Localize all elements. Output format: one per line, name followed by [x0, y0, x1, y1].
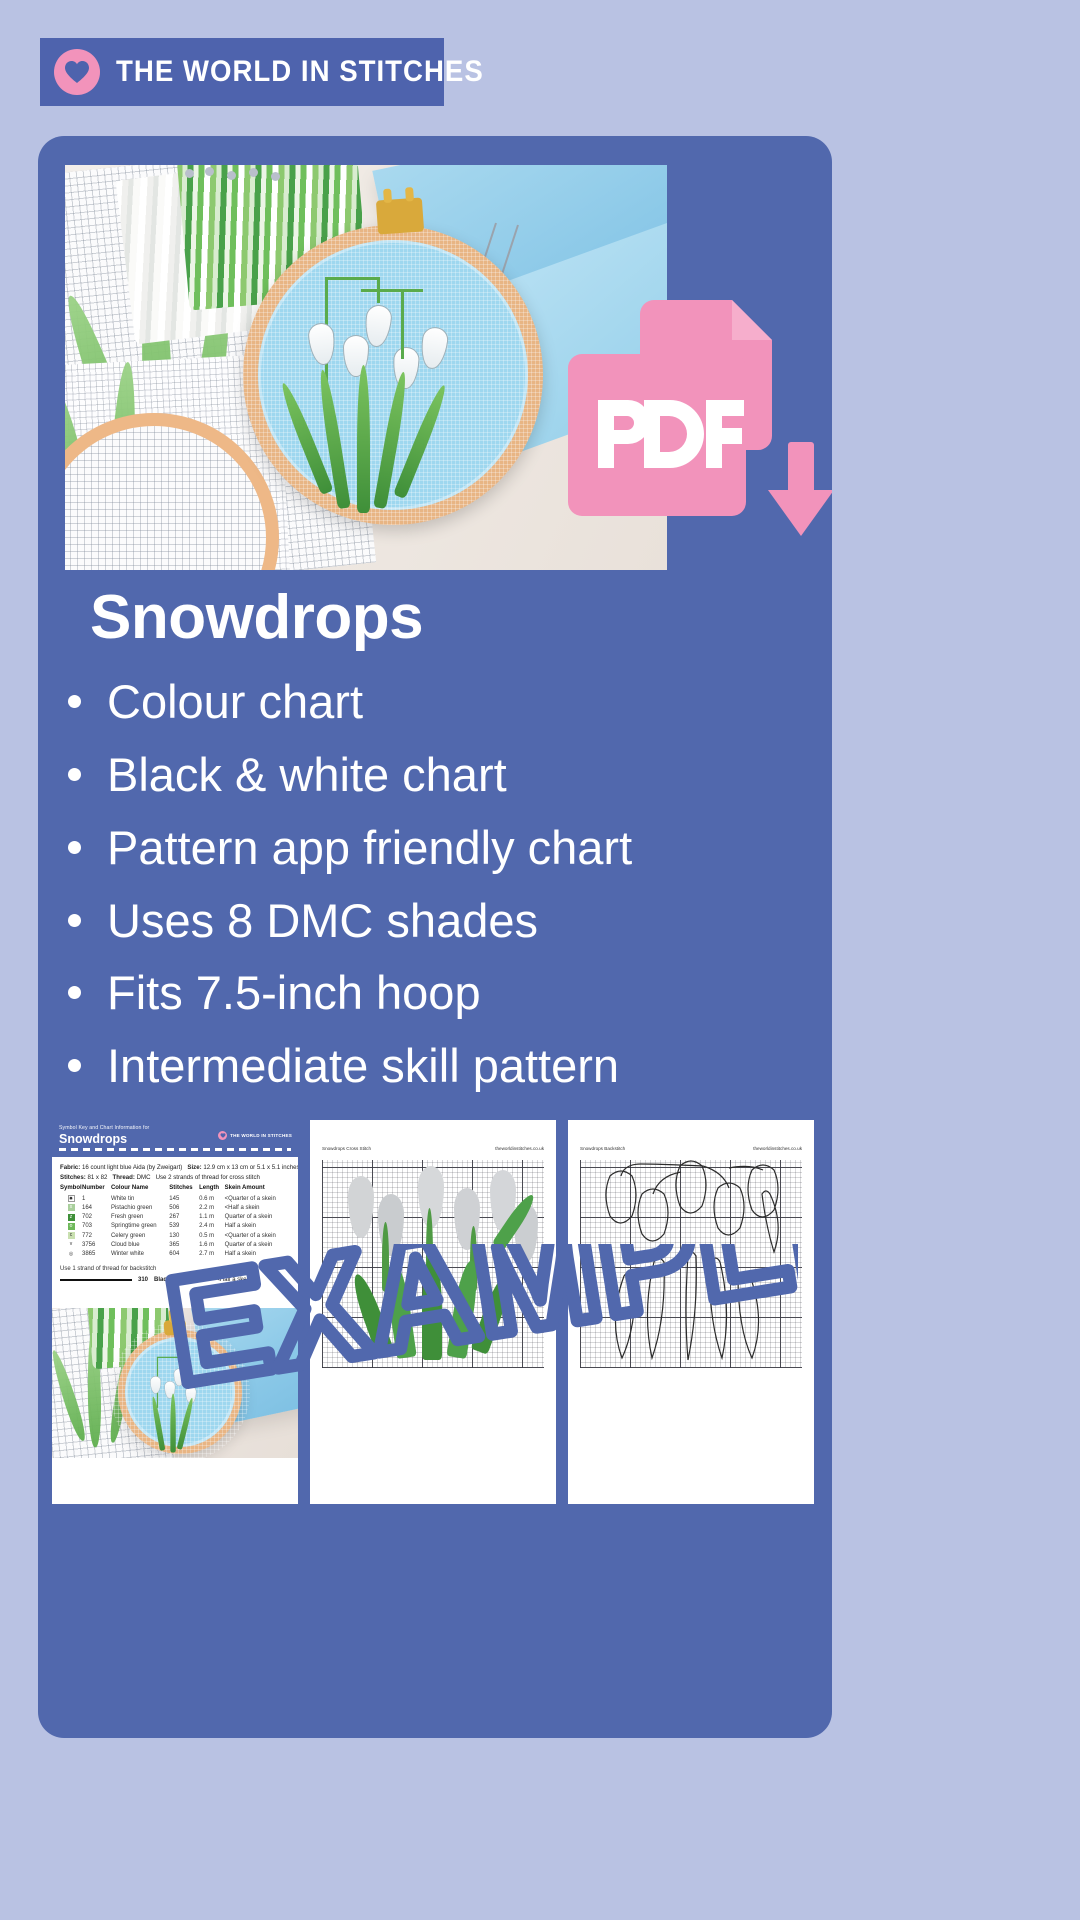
cell-length: 2.7 m [199, 1250, 225, 1259]
table-row: x 164 Pistachio green 506 2.2 m <Half a … [60, 1203, 290, 1212]
cell-name: White tin [111, 1194, 169, 1203]
key-sheet-brand: THE WORLD IN STITCHES [218, 1131, 292, 1140]
backstitch-chart-title: Snowdrops Backstitch [580, 1146, 625, 1151]
list-item: Pattern app friendly chart [68, 812, 808, 885]
cell-number: 3756 [82, 1240, 111, 1249]
cell-skein: Quarter of a skein [225, 1240, 290, 1249]
feature-label: Pattern app friendly chart [107, 812, 632, 885]
cell-length: 1.6 m [199, 1240, 225, 1249]
key-sheet-brand-label: THE WORLD IN STITCHES [230, 1133, 292, 1138]
bullet-icon [68, 986, 81, 999]
cell-stitches: 130 [169, 1231, 199, 1240]
preview-key-sheet[interactable]: Symbol Key and Chart Information for Sno… [52, 1120, 298, 1504]
col-stitches: Stitches [169, 1185, 199, 1194]
list-item: Intermediate skill pattern [68, 1030, 808, 1103]
cell-name: Fresh green [111, 1213, 169, 1222]
cell-number: 3865 [82, 1250, 111, 1259]
bullet-icon [68, 695, 81, 708]
stitches-line: Stitches: 81 x 82 Thread: DMC Use 2 stra… [60, 1174, 290, 1181]
colour-chart-canvas [322, 1160, 544, 1368]
backstitch-chart-header: Snowdrops Backstitch theworldinstitches.… [568, 1120, 814, 1151]
cell-length: 2.2 m [199, 1203, 225, 1212]
cell-number: 703 [82, 1222, 111, 1231]
cell-stitches: 267 [169, 1213, 199, 1222]
cell-stitches: 506 [169, 1203, 199, 1212]
list-item: Colour chart [68, 666, 808, 739]
cell-symbol: ◎ [60, 1250, 82, 1259]
col-name: Colour Name [111, 1185, 169, 1194]
product-card: Snowdrops Colour chart Black & white cha… [38, 136, 832, 1738]
cell-symbol: ✸ [60, 1194, 82, 1203]
list-item: Uses 8 DMC shades [68, 885, 808, 958]
list-item: Black & white chart [68, 739, 808, 812]
size-value: 12.9 cm x 13 cm or 5.1 x 5.1 inches [203, 1164, 298, 1171]
col-length: Length [199, 1185, 225, 1194]
cell-stitches: 539 [169, 1222, 199, 1231]
col-number: Number [82, 1185, 111, 1194]
feature-label: Black & white chart [107, 739, 507, 812]
backstitch-row: 310 Black 1229 1.7 m <Half a skein [60, 1277, 290, 1283]
cell-name: Springtime green [111, 1222, 169, 1231]
bullet-icon [68, 841, 81, 854]
feature-label: Colour chart [107, 666, 363, 739]
cell-number: 1 [82, 1194, 111, 1203]
bullet-icon [68, 1059, 81, 1072]
bs-name: Black [154, 1277, 170, 1283]
cell-symbol: o [60, 1222, 82, 1231]
cell-symbol: c [60, 1231, 82, 1240]
symbol-key-table: Symbol Number Colour Name Stitches Lengt… [60, 1185, 290, 1259]
preview-thumbnails: Symbol Key and Chart Information for Sno… [50, 1120, 820, 1504]
cell-skein: <Quarter of a skein [225, 1231, 290, 1240]
colour-chart-header: Snowdrops Cross Stitch theworldinstitche… [310, 1120, 556, 1151]
strands-note: Use 2 strands of thread for cross stitch [156, 1174, 260, 1181]
table-row: z 702 Fresh green 267 1.1 m Quarter of a… [60, 1213, 290, 1222]
key-sheet-body: Fabric: 16 count light blue Aida (by Zwe… [52, 1157, 298, 1283]
cell-number: 164 [82, 1203, 111, 1212]
table-header-row: Symbol Number Colour Name Stitches Lengt… [60, 1185, 290, 1194]
colour-chart-title: Snowdrops Cross Stitch [322, 1146, 371, 1151]
table-row: o 703 Springtime green 539 2.4 m Half a … [60, 1222, 290, 1231]
key-sheet-header: Symbol Key and Chart Information for Sno… [52, 1120, 298, 1157]
size-label: Size: [187, 1164, 201, 1171]
cell-stitches: 365 [169, 1240, 199, 1249]
hero-photo-illustration [65, 165, 667, 570]
col-skein: Skein Amount [225, 1185, 290, 1194]
cell-skein: Half a skein [225, 1222, 290, 1231]
cell-name: Pistachio green [111, 1203, 169, 1212]
feature-label: Fits 7.5-inch hoop [107, 957, 481, 1030]
cell-skein: Half a skein [225, 1250, 290, 1259]
cell-symbol: x [60, 1203, 82, 1212]
fabric-line: Fabric: 16 count light blue Aida (by Zwe… [60, 1164, 290, 1171]
bs-number: 310 [138, 1277, 148, 1283]
brand-name: THE WORLD IN STITCHES [116, 55, 484, 89]
cell-skein: <Half a skein [225, 1203, 290, 1212]
cell-number: 772 [82, 1231, 111, 1240]
preview-backstitch-chart[interactable]: Snowdrops Backstitch theworldinstitches.… [568, 1120, 814, 1504]
list-item: Fits 7.5-inch hoop [68, 957, 808, 1030]
page-title: Snowdrops [90, 582, 423, 653]
cell-skein: Quarter of a skein [225, 1213, 290, 1222]
backstitch-note: Use 1 strand of thread for backstitch [60, 1266, 290, 1272]
cell-number: 702 [82, 1213, 111, 1222]
thread-value: DMC [137, 1174, 151, 1181]
table-row: ◎ 3865 Winter white 604 2.7 m Half a ske… [60, 1250, 290, 1259]
key-sheet-photo [52, 1308, 298, 1458]
cell-length: 1.1 m [199, 1213, 225, 1222]
feature-label: Intermediate skill pattern [107, 1030, 619, 1103]
preview-colour-chart[interactable]: Snowdrops Cross Stitch theworldinstitche… [310, 1120, 556, 1504]
backstitch-chart-site: theworldinstitches.co.uk [753, 1146, 802, 1151]
cell-length: 0.5 m [199, 1231, 225, 1240]
feature-list: Colour chart Black & white chart Pattern… [68, 666, 808, 1103]
table-row: c 772 Celery green 130 0.5 m <Quarter of… [60, 1231, 290, 1240]
bullet-icon [68, 768, 81, 781]
backstitch-line-icon [60, 1279, 132, 1281]
cell-length: 2.4 m [199, 1222, 225, 1231]
stitches-label: Stitches: [60, 1174, 86, 1181]
hero-photo [65, 165, 667, 570]
fabric-label: Fabric: [60, 1164, 80, 1171]
stitches-value: 81 x 82 [87, 1174, 107, 1181]
cell-skein: <Quarter of a skein [225, 1194, 290, 1203]
divider [59, 1148, 291, 1151]
cell-name: Cloud blue [111, 1240, 169, 1249]
heart-icon [54, 49, 100, 95]
cell-length: 0.6 m [199, 1194, 225, 1203]
heart-icon [218, 1131, 227, 1140]
col-symbol: Symbol [60, 1185, 82, 1194]
cell-stitches: 604 [169, 1250, 199, 1259]
cell-name: Winter white [111, 1250, 169, 1259]
cell-name: Celery green [111, 1231, 169, 1240]
table-row: ✸ 1 White tin 145 0.6 m <Quarter of a sk… [60, 1194, 290, 1203]
brand-logo-bar: THE WORLD IN STITCHES [40, 38, 444, 106]
colour-chart-site: theworldinstitches.co.uk [495, 1146, 544, 1151]
bs-skein: <Half a skein [216, 1277, 251, 1283]
backstitch-chart-canvas [580, 1160, 802, 1368]
table-row: v 3756 Cloud blue 365 1.6 m Quarter of a… [60, 1240, 290, 1249]
backstitch-outline-icon [580, 1160, 802, 1368]
bullet-icon [68, 914, 81, 927]
fabric-value: 16 count light blue Aida (by Zweigart) [82, 1164, 182, 1171]
cell-symbol: z [60, 1213, 82, 1222]
bs-length: 1.7 m [195, 1277, 210, 1283]
cell-symbol: v [60, 1240, 82, 1249]
cell-stitches: 145 [169, 1194, 199, 1203]
feature-label: Uses 8 DMC shades [107, 885, 538, 958]
thread-label: Thread: [113, 1174, 135, 1181]
bs-stitches: 1229 [176, 1277, 189, 1283]
